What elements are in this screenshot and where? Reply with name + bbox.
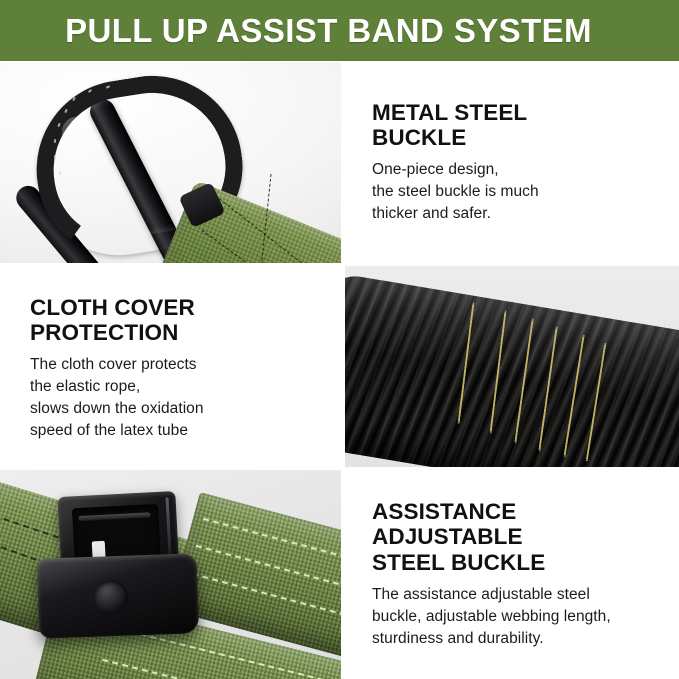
- buckle-lever: [37, 553, 200, 639]
- cloth-cover-illustration: [345, 266, 679, 467]
- webbing-stitch-line: [203, 518, 341, 598]
- cloth-covered-rope: [345, 271, 679, 467]
- feature-heading-line: ADJUSTABLE: [372, 524, 665, 549]
- header-banner: PULL UP ASSIST BAND SYSTEM: [0, 0, 679, 61]
- webbing-stitch-line: [196, 545, 341, 625]
- feature-body-line: slows down the oxidation: [30, 398, 327, 420]
- feature-body-line: The assistance adjustable steel: [372, 584, 665, 606]
- feature-heading: METAL STEEL BUCKLE: [372, 100, 665, 151]
- feature-heading: ASSISTANCE ADJUSTABLE STEEL BUCKLE: [372, 499, 665, 575]
- feature-body-line: the steel buckle is much: [372, 181, 665, 203]
- carabiner-photo: [0, 62, 341, 263]
- adjustable-buckle-photo: [0, 470, 341, 679]
- cloth-cover-photo: [345, 266, 679, 467]
- feature-heading-line: PROTECTION: [30, 320, 327, 345]
- feature-heading-line: CLOTH COVER: [30, 295, 327, 320]
- feature-text-cloth-cover-protection: CLOTH COVER PROTECTION The cloth cover p…: [0, 270, 341, 467]
- feature-body: The cloth cover protects the elastic rop…: [30, 354, 327, 442]
- adjustable-buckle-illustration: [0, 470, 341, 679]
- product-infographic: PULL UP ASSIST BAND SYSTEM ME: [0, 0, 679, 679]
- carabiner-illustration: [0, 62, 341, 263]
- feature-text-metal-steel-buckle: METAL STEEL BUCKLE One-piece design, the…: [348, 62, 679, 263]
- feature-heading-line: ASSISTANCE: [372, 499, 665, 524]
- webbing-stitch-line: [261, 174, 272, 263]
- feature-body-line: sturdiness and durability.: [372, 628, 665, 650]
- feature-body-line: thicker and safer.: [372, 203, 665, 225]
- feature-body-line: One-piece design,: [372, 159, 665, 181]
- buckle-thumb-hole: [93, 580, 128, 615]
- feature-heading-line: METAL STEEL: [372, 100, 665, 125]
- feature-body-line: The cloth cover protects: [30, 354, 327, 376]
- feature-body-line: buckle, adjustable webbing length,: [372, 606, 665, 628]
- feature-heading-line: STEEL BUCKLE: [372, 550, 665, 575]
- feature-body: The assistance adjustable steel buckle, …: [372, 584, 665, 650]
- feature-body: One-piece design, the steel buckle is mu…: [372, 159, 665, 225]
- carabiner-highlight-speck: [54, 155, 56, 159]
- feature-heading-line: BUCKLE: [372, 125, 665, 150]
- carabiner-highlight-speck: [59, 171, 62, 175]
- feature-body-line: speed of the latex tube: [30, 420, 327, 442]
- feature-text-assistance-adjustable-steel-buckle: ASSISTANCE ADJUSTABLE STEEL BUCKLE The a…: [348, 470, 679, 679]
- feature-heading: CLOTH COVER PROTECTION: [30, 295, 327, 346]
- feature-body-line: the elastic rope,: [30, 376, 327, 398]
- webbing-stitch-line: [211, 192, 330, 263]
- page-title: PULL UP ASSIST BAND SYSTEM: [65, 14, 592, 47]
